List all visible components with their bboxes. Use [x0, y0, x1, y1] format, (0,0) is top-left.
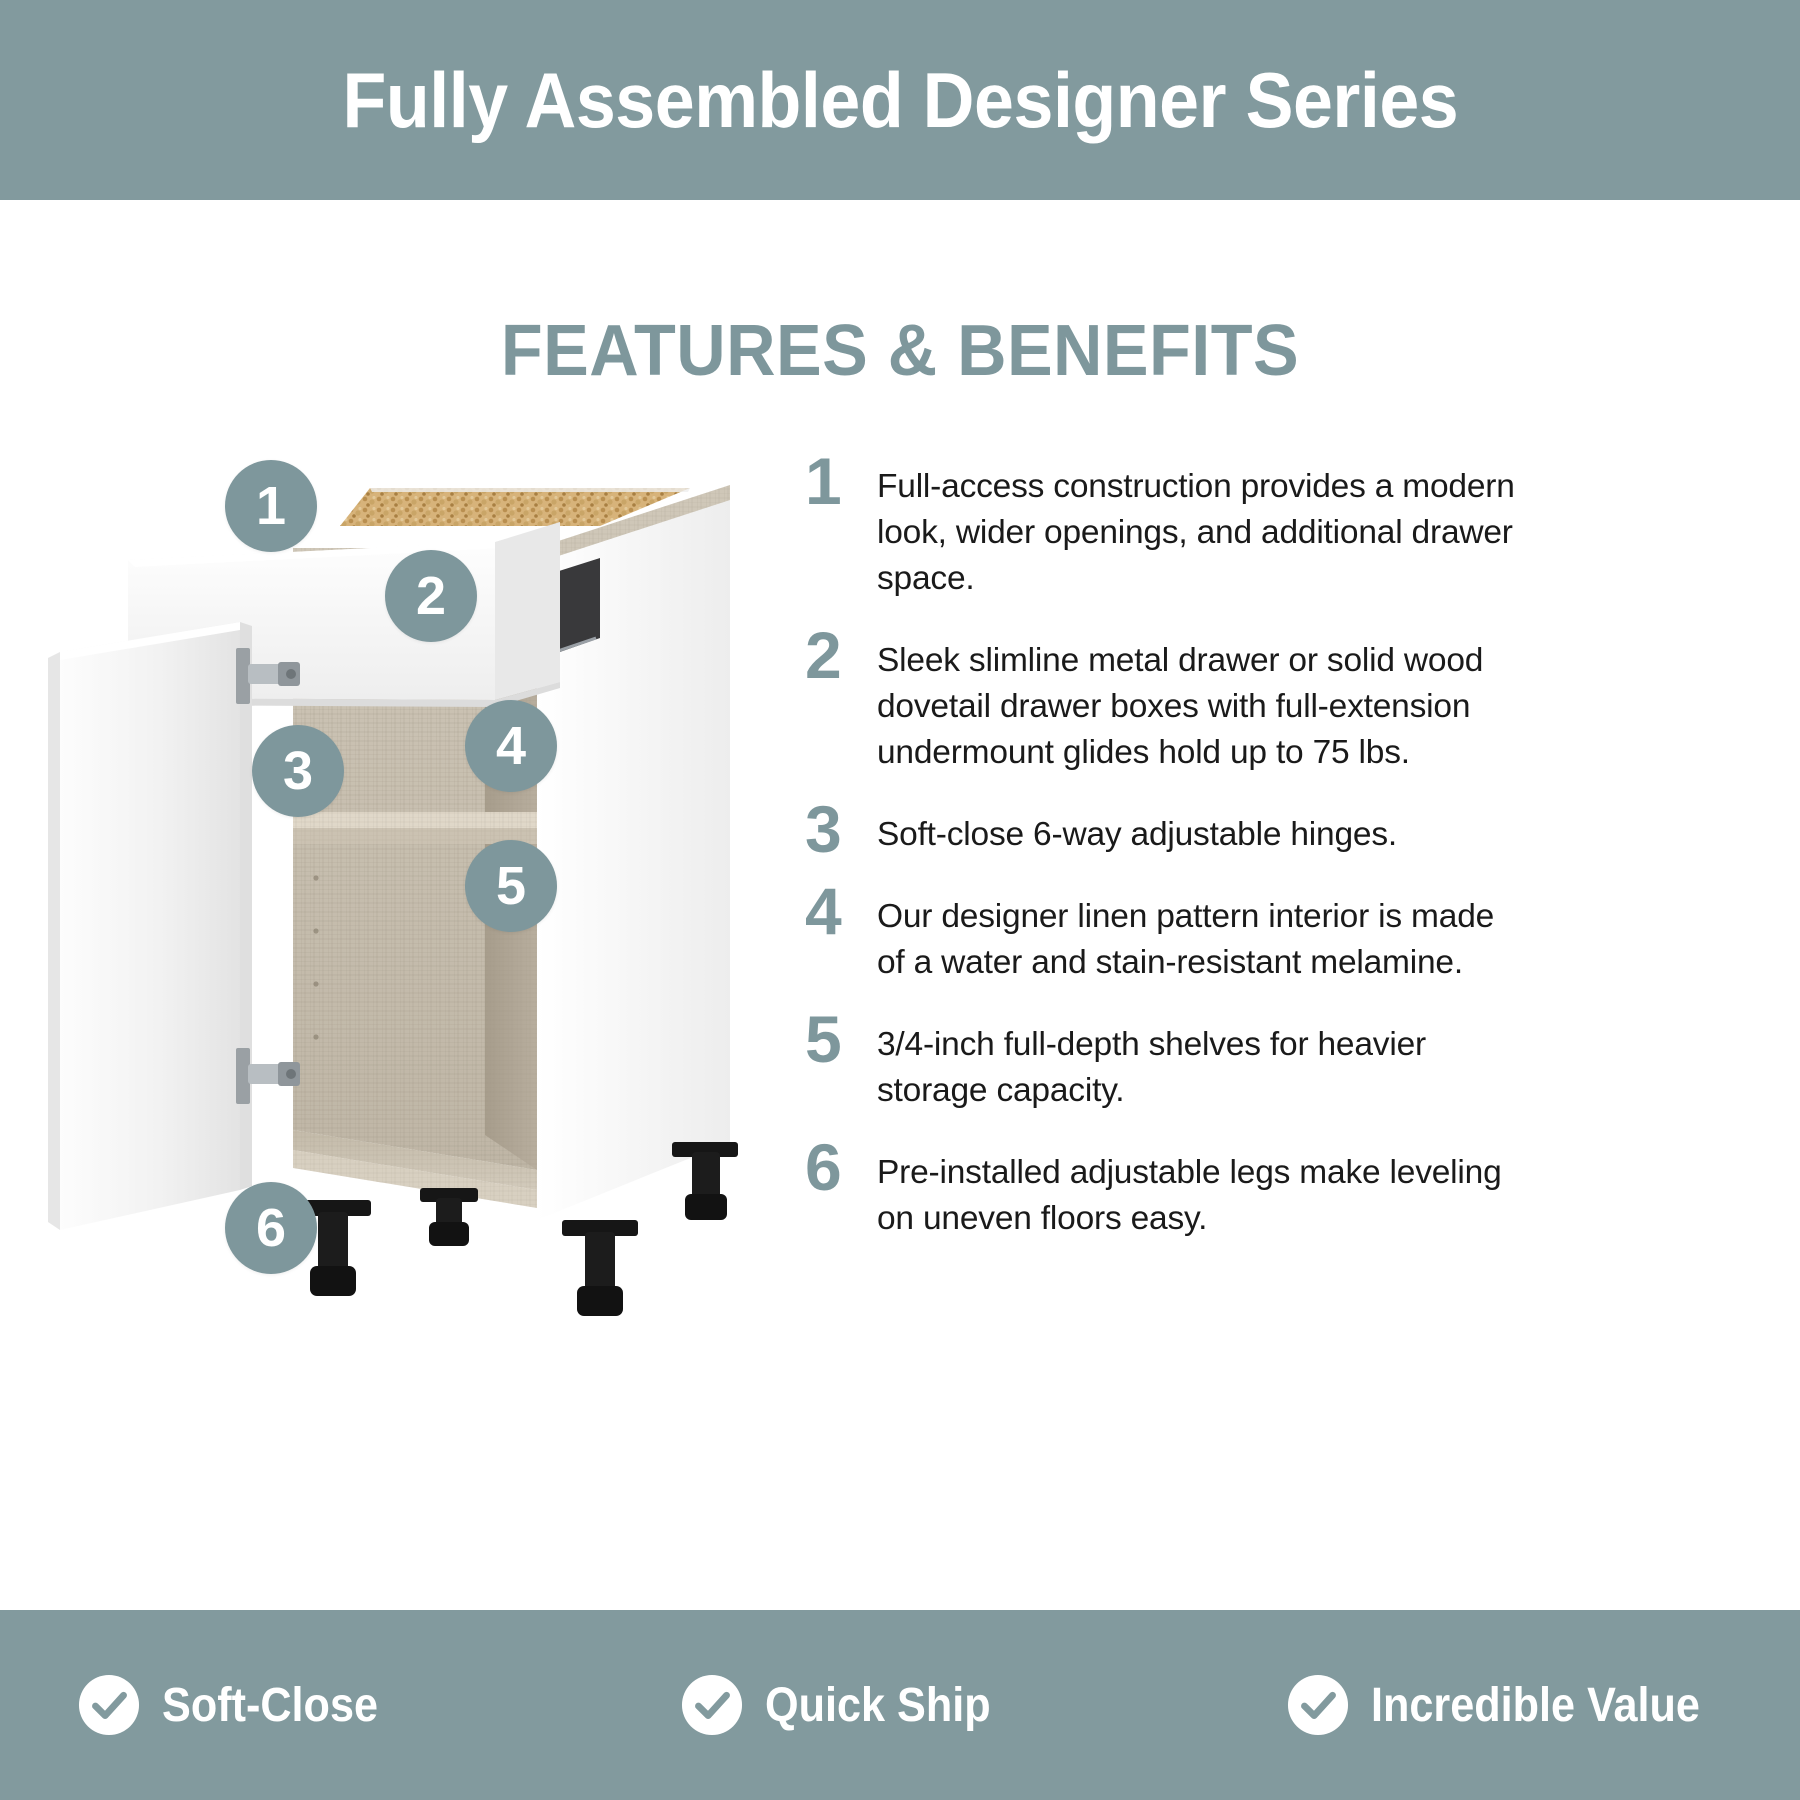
feature-number-6: 6 [805, 1136, 877, 1196]
content-area: 1 2 3 4 5 6 1 Full-access construction p… [0, 430, 1800, 1590]
callout-badge-4[interactable]: 4 [465, 700, 557, 792]
feature-description-4: Our designer linen pattern interior is m… [877, 880, 1755, 986]
feature-line: Sleek slimline metal drawer or solid woo… [877, 638, 1755, 684]
feature-item-5: 5 3/4-inch full-depth shelves for heavie… [805, 1008, 1755, 1114]
feature-line: storage capacity. [877, 1068, 1755, 1114]
cabinet-door-face [60, 622, 240, 1230]
feature-line: of a water and stain-resistant melamine. [877, 940, 1755, 986]
callout-badge-3[interactable]: 3 [252, 725, 344, 817]
footer-badge-label: Incredible Value [1371, 1678, 1700, 1733]
feature-line: 3/4-inch full-depth shelves for heavier [877, 1022, 1755, 1068]
feature-line: Full-access construction provides a mode… [877, 464, 1755, 510]
callout-badge-2[interactable]: 2 [385, 550, 477, 642]
footer-badge-incredible-value: Incredible Value [1195, 1674, 1800, 1736]
callout-badge-6[interactable]: 6 [225, 1182, 317, 1274]
adjustable-leg-front-right [562, 1220, 638, 1316]
feature-number-5: 5 [805, 1008, 877, 1068]
header-banner: Fully Assembled Designer Series [0, 0, 1800, 200]
feature-description-6: Pre-installed adjustable legs make level… [877, 1136, 1755, 1242]
feature-line: space. [877, 556, 1755, 602]
check-circle-icon [78, 1674, 140, 1736]
soft-close-hinge-bottom [236, 1048, 300, 1104]
feature-line: Our designer linen pattern interior is m… [877, 894, 1755, 940]
feature-item-3: 3 Soft-close 6-way adjustable hinges. [805, 798, 1755, 858]
feature-line: look, wider openings, and additional dra… [877, 510, 1755, 556]
feature-item-2: 2 Sleek slimline metal drawer or solid w… [805, 624, 1755, 776]
footer-badge-label: Soft-Close [162, 1678, 378, 1733]
features-list: 1 Full-access construction provides a mo… [805, 450, 1755, 1264]
door-left-edge [48, 652, 60, 1230]
door-inner-edge [240, 622, 252, 1190]
feature-line: Pre-installed adjustable legs make level… [877, 1150, 1755, 1196]
footer-badge-label: Quick Ship [765, 1678, 991, 1733]
drawer-front-side-edge [495, 522, 560, 700]
feature-number-2: 2 [805, 624, 877, 684]
page-title: Fully Assembled Designer Series [342, 55, 1458, 146]
feature-number-1: 1 [805, 450, 877, 510]
footer-badge-soft-close: Soft-Close [0, 1674, 591, 1736]
feature-number-4: 4 [805, 880, 877, 940]
feature-description-1: Full-access construction provides a mode… [877, 450, 1755, 602]
feature-item-4: 4 Our designer linen pattern interior is… [805, 880, 1755, 986]
feature-line: on uneven floors easy. [877, 1196, 1755, 1242]
check-circle-icon [681, 1674, 743, 1736]
feature-line: dovetail drawer boxes with full-extensio… [877, 684, 1755, 730]
feature-description-2: Sleek slimline metal drawer or solid woo… [877, 624, 1755, 776]
callout-badge-1[interactable]: 1 [225, 460, 317, 552]
feature-item-6: 6 Pre-installed adjustable legs make lev… [805, 1136, 1755, 1242]
feature-line: Soft-close 6-way adjustable hinges. [877, 812, 1755, 858]
callout-badge-5[interactable]: 5 [465, 840, 557, 932]
cabinet-illustration: 1 2 3 4 5 6 [40, 430, 870, 1430]
feature-number-3: 3 [805, 798, 877, 858]
footer-badge-quick-ship: Quick Ship [591, 1674, 1194, 1736]
feature-item-1: 1 Full-access construction provides a mo… [805, 450, 1755, 602]
check-circle-icon [1287, 1674, 1349, 1736]
shelf-linen-texture [293, 812, 537, 828]
top-edge-highlight [370, 488, 690, 492]
feature-line: undermount glides hold up to 75 lbs. [877, 730, 1755, 776]
section-heading: FEATURES & BENEFITS [45, 310, 1755, 392]
feature-description-5: 3/4-inch full-depth shelves for heavier … [877, 1008, 1755, 1114]
footer-banner: Soft-Close Quick Ship Incredible Value [0, 1610, 1800, 1800]
adjustable-leg-back-center [420, 1188, 478, 1246]
adjustable-leg-back-right [672, 1142, 738, 1220]
feature-description-3: Soft-close 6-way adjustable hinges. [877, 798, 1755, 858]
